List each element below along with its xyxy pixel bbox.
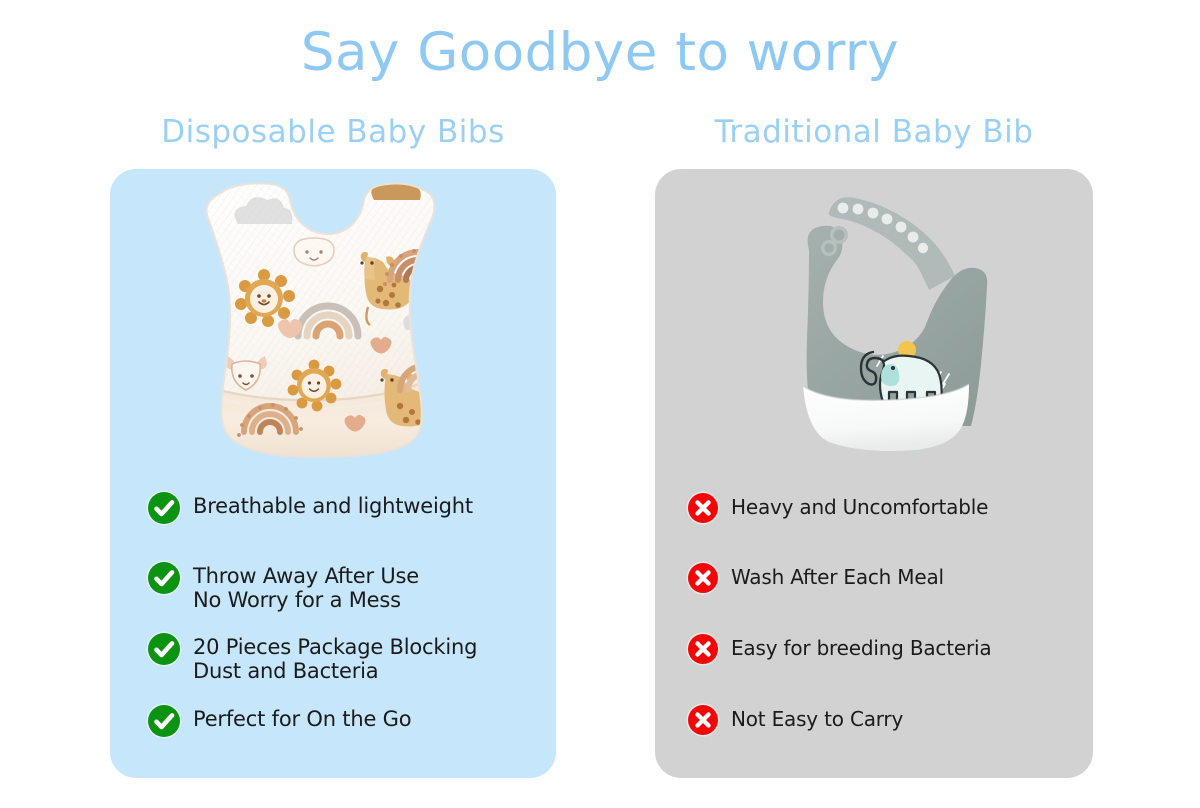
check-icon <box>148 492 180 524</box>
cross-icon <box>688 634 718 664</box>
feature-label: Breathable and lightweight <box>193 492 473 519</box>
product-image-disposable-bib <box>178 182 446 460</box>
feature-item: Wash After Each Meal <box>688 563 1088 593</box>
feature-label: Throw Away After Use No Worry for a Mess <box>193 562 419 612</box>
comparison-infographic: Say Goodbye to worry Disposable Baby Bib… <box>0 0 1200 808</box>
check-icon <box>148 633 180 665</box>
column-title-disposable: Disposable Baby Bibs <box>110 114 556 150</box>
feature-label: Not Easy to Carry <box>731 705 903 730</box>
cross-icon <box>688 705 718 735</box>
feature-item: Heavy and Uncomfortable <box>688 493 1088 523</box>
feature-label: Heavy and Uncomfortable <box>731 493 988 518</box>
feature-item: Not Easy to Carry <box>688 705 1088 735</box>
feature-item: 20 Pieces Package Blocking Dust and Bact… <box>148 633 558 683</box>
cross-icon <box>688 563 718 593</box>
feature-item: Perfect for On the Go <box>148 705 548 737</box>
column-title-traditional: Traditional Baby Bib <box>655 114 1093 150</box>
feature-label: 20 Pieces Package Blocking Dust and Bact… <box>193 633 477 683</box>
page-title: Say Goodbye to worry <box>0 24 1200 82</box>
feature-item: Easy for breeding Bacteria <box>688 634 1088 664</box>
feature-item: Throw Away After Use No Worry for a Mess <box>148 562 548 612</box>
cross-icon <box>688 493 718 523</box>
feature-item: Breathable and lightweight <box>148 492 548 524</box>
product-image-traditional-bib <box>757 190 1023 452</box>
feature-label: Easy for breeding Bacteria <box>731 634 991 659</box>
check-icon <box>148 562 180 594</box>
check-icon <box>148 705 180 737</box>
feature-label: Wash After Each Meal <box>731 563 944 588</box>
feature-label: Perfect for On the Go <box>193 705 411 732</box>
